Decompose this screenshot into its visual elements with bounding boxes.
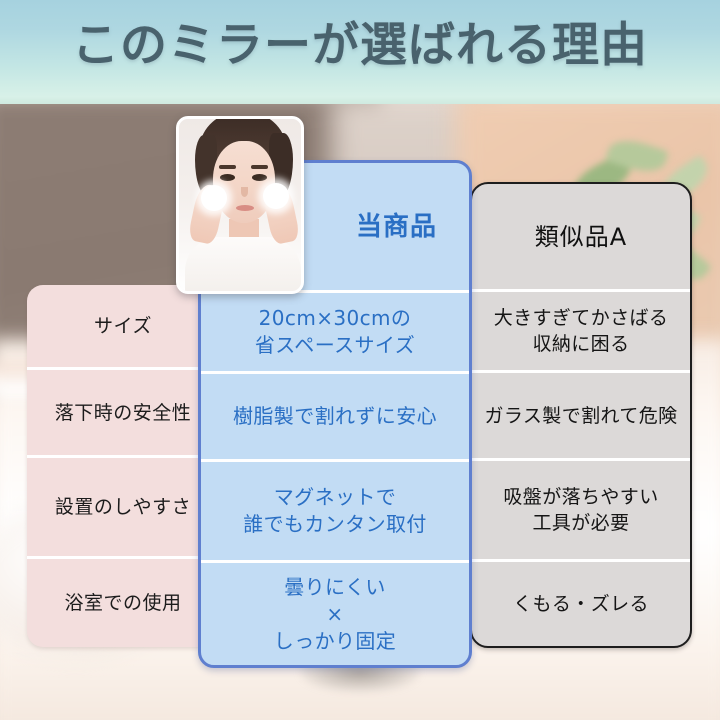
photo-nose — [241, 187, 248, 197]
rival-cell-drop-safety: ガラス製で割れて危険 — [472, 373, 690, 458]
rival-column-header: 類似品A — [472, 184, 690, 289]
row-label-installation: 設置のしやすさ — [27, 458, 219, 556]
woman-washing-face-photo — [176, 116, 304, 294]
row-label-drop-safety: 落下時の安全性 — [27, 370, 219, 455]
product-comparison-infographic: このミラーが選ばれる理由 サイズ 落下時の安全性 設 — [0, 0, 720, 720]
comparison-rival-column: 類似品A 大きすぎてかさばる 収納に困る ガラス製で割れて危険 吸盤が落ちやすい… — [470, 182, 692, 648]
header-banner: このミラーが選ばれる理由 — [0, 0, 720, 104]
rival-cell-size: 大きすぎてかさばる 収納に困る — [472, 292, 690, 370]
photo-eye-left — [220, 174, 235, 181]
photo-foam-left — [201, 185, 227, 211]
row-label-size: サイズ — [27, 285, 219, 367]
photo-eyebrow-left — [219, 165, 236, 169]
comparison-label-column: サイズ 落下時の安全性 設置のしやすさ 浴室での使用 — [27, 285, 219, 647]
rival-cell-bathroom-use: くもる・ズレる — [472, 562, 690, 646]
product-cell-drop-safety: 樹脂製で割れずに安心 — [201, 374, 469, 459]
product-cell-bathroom-use: 曇りにくい × しっかり固定 — [201, 563, 469, 665]
rival-cell-installation: 吸盤が落ちやすい 工具が必要 — [472, 461, 690, 559]
photo-shirt — [185, 237, 301, 294]
product-cell-installation: マグネットで 誰でもカンタン取付 — [201, 462, 469, 560]
product-cell-size: 20cm×30cmの 省スペースサイズ — [201, 293, 469, 371]
photo-foam-right — [263, 183, 289, 209]
photo-eyebrow-right — [251, 165, 268, 169]
photo-eye-right — [252, 174, 267, 181]
row-label-bathroom-use: 浴室での使用 — [27, 559, 219, 647]
photo-mouth — [236, 205, 254, 211]
page-title: このミラーが選ばれる理由 — [0, 14, 720, 78]
